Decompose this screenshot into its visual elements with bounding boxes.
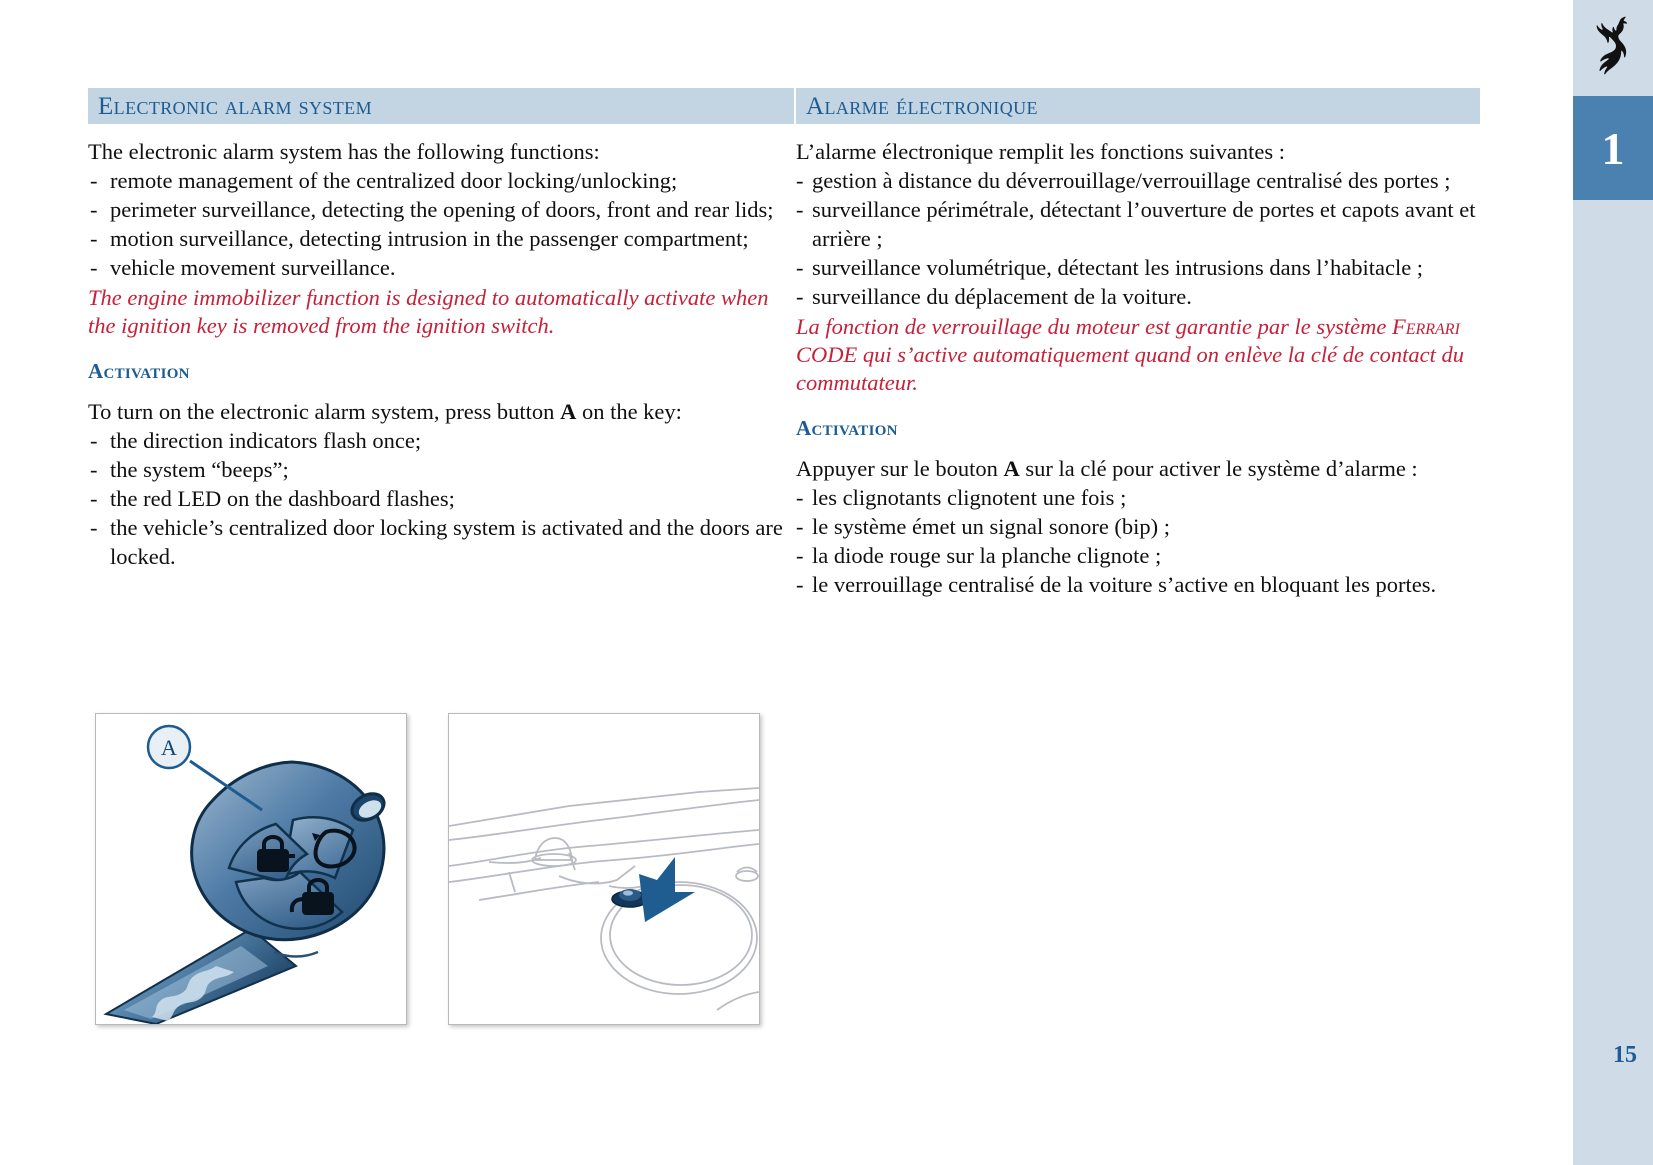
list-item: le verrouillage centralisé de la voiture… [796,570,1480,599]
functions-list-french: gestion à distance du déverrouillage/ver… [796,166,1480,311]
activation-list-english: the direction indicators flash once; the… [88,426,794,571]
chapter-tab-number: 1 [1573,96,1653,200]
activation-intro-french: Appuyer sur le bouton A sur la clé pour … [796,454,1480,483]
activation-intro-post: sur la clé pour activer le système d’ala… [1020,456,1418,481]
list-item: les clignotants clignotent une fois ; [796,483,1480,512]
english-column: Electronic alarm system The electronic a… [88,88,794,571]
key-blade [106,929,296,1024]
list-item: the system “beeps”; [88,455,794,484]
callout-a: A [148,726,262,810]
ferrari-logo-box [1573,0,1653,92]
warning-post: CODE qui s’active automatiquement quand … [796,342,1464,395]
button-a-reference: A [1003,456,1019,481]
list-item: surveillance du déplacement de la voitur… [796,282,1480,311]
dashboard-outline [449,788,759,1010]
activation-body-english: To turn on the electronic alarm system, … [88,397,794,571]
button-a-reference: A [560,399,576,424]
list-item: the vehicle’s centralized door locking s… [88,513,794,571]
list-item: remote management of the centralized doo… [88,166,794,195]
intro-paragraph-english: The electronic alarm system has the foll… [88,137,794,166]
figure-dashboard-led [448,713,760,1025]
list-item: perimeter surveillance, detecting the op… [88,195,794,224]
ignition-key-illustration: A [96,714,406,1024]
activation-intro-post: on the key: [576,399,682,424]
activation-intro-pre: Appuyer sur le bouton [796,456,1003,481]
subheading-activation-french: Activation [796,416,1480,441]
english-body: The electronic alarm system has the foll… [88,137,794,282]
ferrari-wordmark: Ferrari [1392,314,1460,339]
activation-intro-english: To turn on the electronic alarm system, … [88,397,794,426]
list-item: vehicle movement surveillance. [88,253,794,282]
activation-list-french: les clignotants clignotent une fois ; le… [796,483,1480,599]
list-item: the direction indicators flash once; [88,426,794,455]
subheading-activation-english: Activation [88,359,794,384]
warning-note-english: The engine immobilizer function is desig… [88,284,794,340]
figure-ignition-key: A [95,713,407,1025]
section-header-band-english: Electronic alarm system [88,88,794,124]
french-body: L’alarme électronique remplit les foncti… [796,137,1480,311]
list-item: le système émet un signal sonore (bip) ; [796,512,1480,541]
callout-a-label: A [161,735,177,760]
warning-note-french: La fonction de verrouillage du moteur es… [796,313,1480,397]
section-header-band-french: Alarme électronique [796,88,1480,124]
arrow-pointing-to-led [639,857,695,922]
page-title-english: Electronic alarm system [98,94,372,119]
list-item: surveillance périmétrale, détectant l’ou… [796,195,1480,253]
functions-list-english: remote management of the centralized doo… [88,166,794,282]
activation-body-french: Appuyer sur le bouton A sur la clé pour … [796,454,1480,599]
intro-paragraph-french: L’alarme électronique remplit les foncti… [796,137,1480,166]
page-number: 15 [1573,1042,1637,1069]
list-item: surveillance volumétrique, détectant les… [796,253,1480,282]
list-item: the red LED on the dashboard flashes; [88,484,794,513]
activation-intro-pre: To turn on the electronic alarm system, … [88,399,560,424]
dashboard-led-illustration [449,714,759,1024]
french-column: Alarme électronique L’alarme électroniqu… [796,88,1480,599]
list-item: gestion à distance du déverrouillage/ver… [796,166,1480,195]
prancing-horse-icon [1590,15,1636,77]
list-item: motion surveillance, detecting intrusion… [88,224,794,253]
list-item: la diode rouge sur la planche clignote ; [796,541,1480,570]
page-title-french: Alarme électronique [806,94,1038,119]
warning-pre: La fonction de verrouillage du moteur es… [796,314,1392,339]
key-head [192,762,389,957]
